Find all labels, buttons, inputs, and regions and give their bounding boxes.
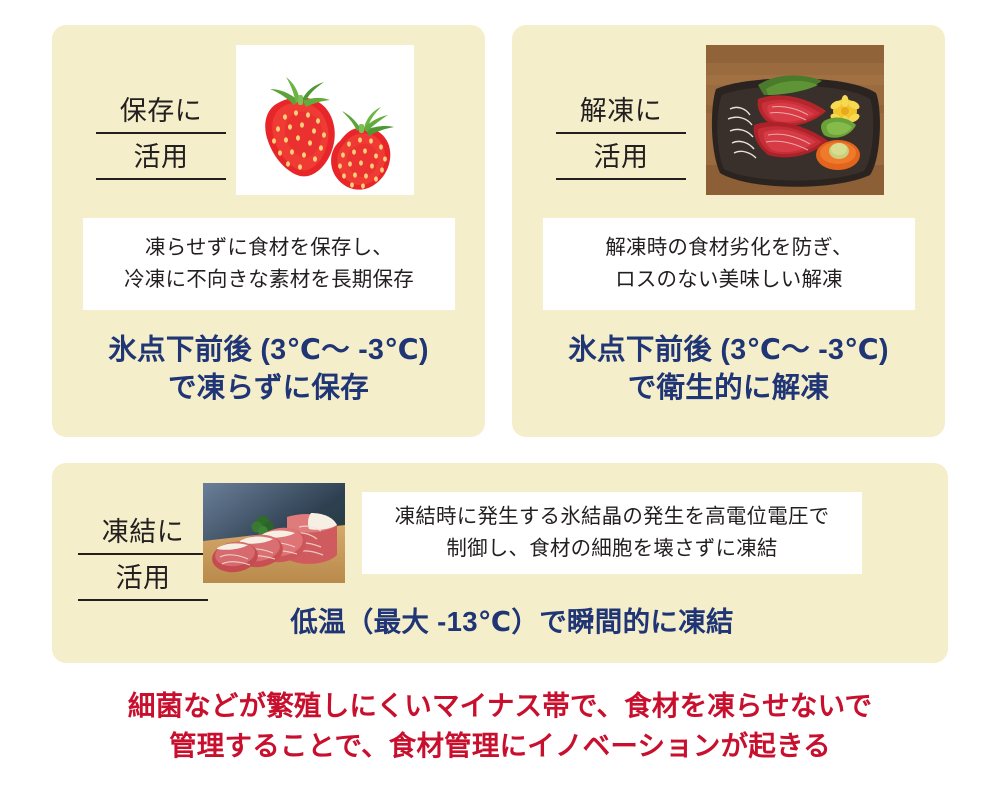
infographic-root: 保存に 活用 bbox=[0, 0, 1000, 791]
side-label-line: 解凍に bbox=[556, 92, 686, 134]
side-label-line: 保存に bbox=[96, 92, 226, 134]
footer-message: 細菌などが繁殖しにくいマイナス帯で、食材を凍らせないで 管理することで、食材管理… bbox=[0, 686, 1000, 766]
side-label-line: 活用 bbox=[556, 138, 686, 180]
description-thaw: 解凍時の食材劣化を防ぎ、 ロスのない美味しい解凍 bbox=[543, 218, 915, 310]
description-line: ロスのない美味しい解凍 bbox=[615, 264, 843, 296]
description-line: 凍らせずに食材を保存し、 bbox=[145, 232, 393, 264]
conclusion-preserve: 氷点下前後 (3℃〜 -3℃) で凍らずに保存 bbox=[62, 332, 475, 408]
description-line: 解凍時の食材劣化を防ぎ、 bbox=[605, 232, 852, 264]
conclusion-freeze: 低温（最大 -13℃）で瞬間的に凍結 bbox=[232, 604, 792, 641]
description-freeze: 凍結時に発生する氷結晶の発生を高電位電圧で 制御し、食材の細胞を壊さずに凍結 bbox=[362, 492, 862, 574]
side-label-freeze: 凍結に 活用 bbox=[78, 513, 208, 605]
conclusion-line: 低温（最大 -13℃）で瞬間的に凍結 bbox=[232, 604, 792, 641]
conclusion-thaw: 氷点下前後 (3℃〜 -3℃) で衛生的に解凍 bbox=[522, 332, 935, 408]
conclusion-line: で衛生的に解凍 bbox=[522, 370, 935, 408]
sashimi-photo bbox=[706, 45, 884, 195]
side-label-line: 活用 bbox=[96, 138, 226, 180]
beef-photo bbox=[203, 483, 345, 583]
description-line: 冷凍に不向きな素材を長期保存 bbox=[124, 264, 414, 296]
side-label-thaw: 解凍に 活用 bbox=[556, 92, 686, 184]
footer-line: 管理することで、食材管理にイノベーションが起きる bbox=[0, 726, 1000, 766]
description-preserve: 凍らせずに食材を保存し、 冷凍に不向きな素材を長期保存 bbox=[83, 218, 455, 310]
side-label-preserve: 保存に 活用 bbox=[96, 92, 226, 184]
side-label-line: 活用 bbox=[78, 559, 208, 601]
footer-line: 細菌などが繁殖しにくいマイナス帯で、食材を凍らせないで bbox=[0, 686, 1000, 726]
conclusion-line: で凍らずに保存 bbox=[62, 370, 475, 408]
conclusion-line: 氷点下前後 (3℃〜 -3℃) bbox=[522, 332, 935, 370]
description-line: 凍結時に発生する氷結晶の発生を高電位電圧で bbox=[395, 501, 830, 533]
strawberries-photo bbox=[236, 45, 414, 195]
conclusion-line: 氷点下前後 (3℃〜 -3℃) bbox=[62, 332, 475, 370]
side-label-line: 凍結に bbox=[78, 513, 208, 555]
description-line: 制御し、食材の細胞を壊さずに凍結 bbox=[446, 533, 777, 565]
